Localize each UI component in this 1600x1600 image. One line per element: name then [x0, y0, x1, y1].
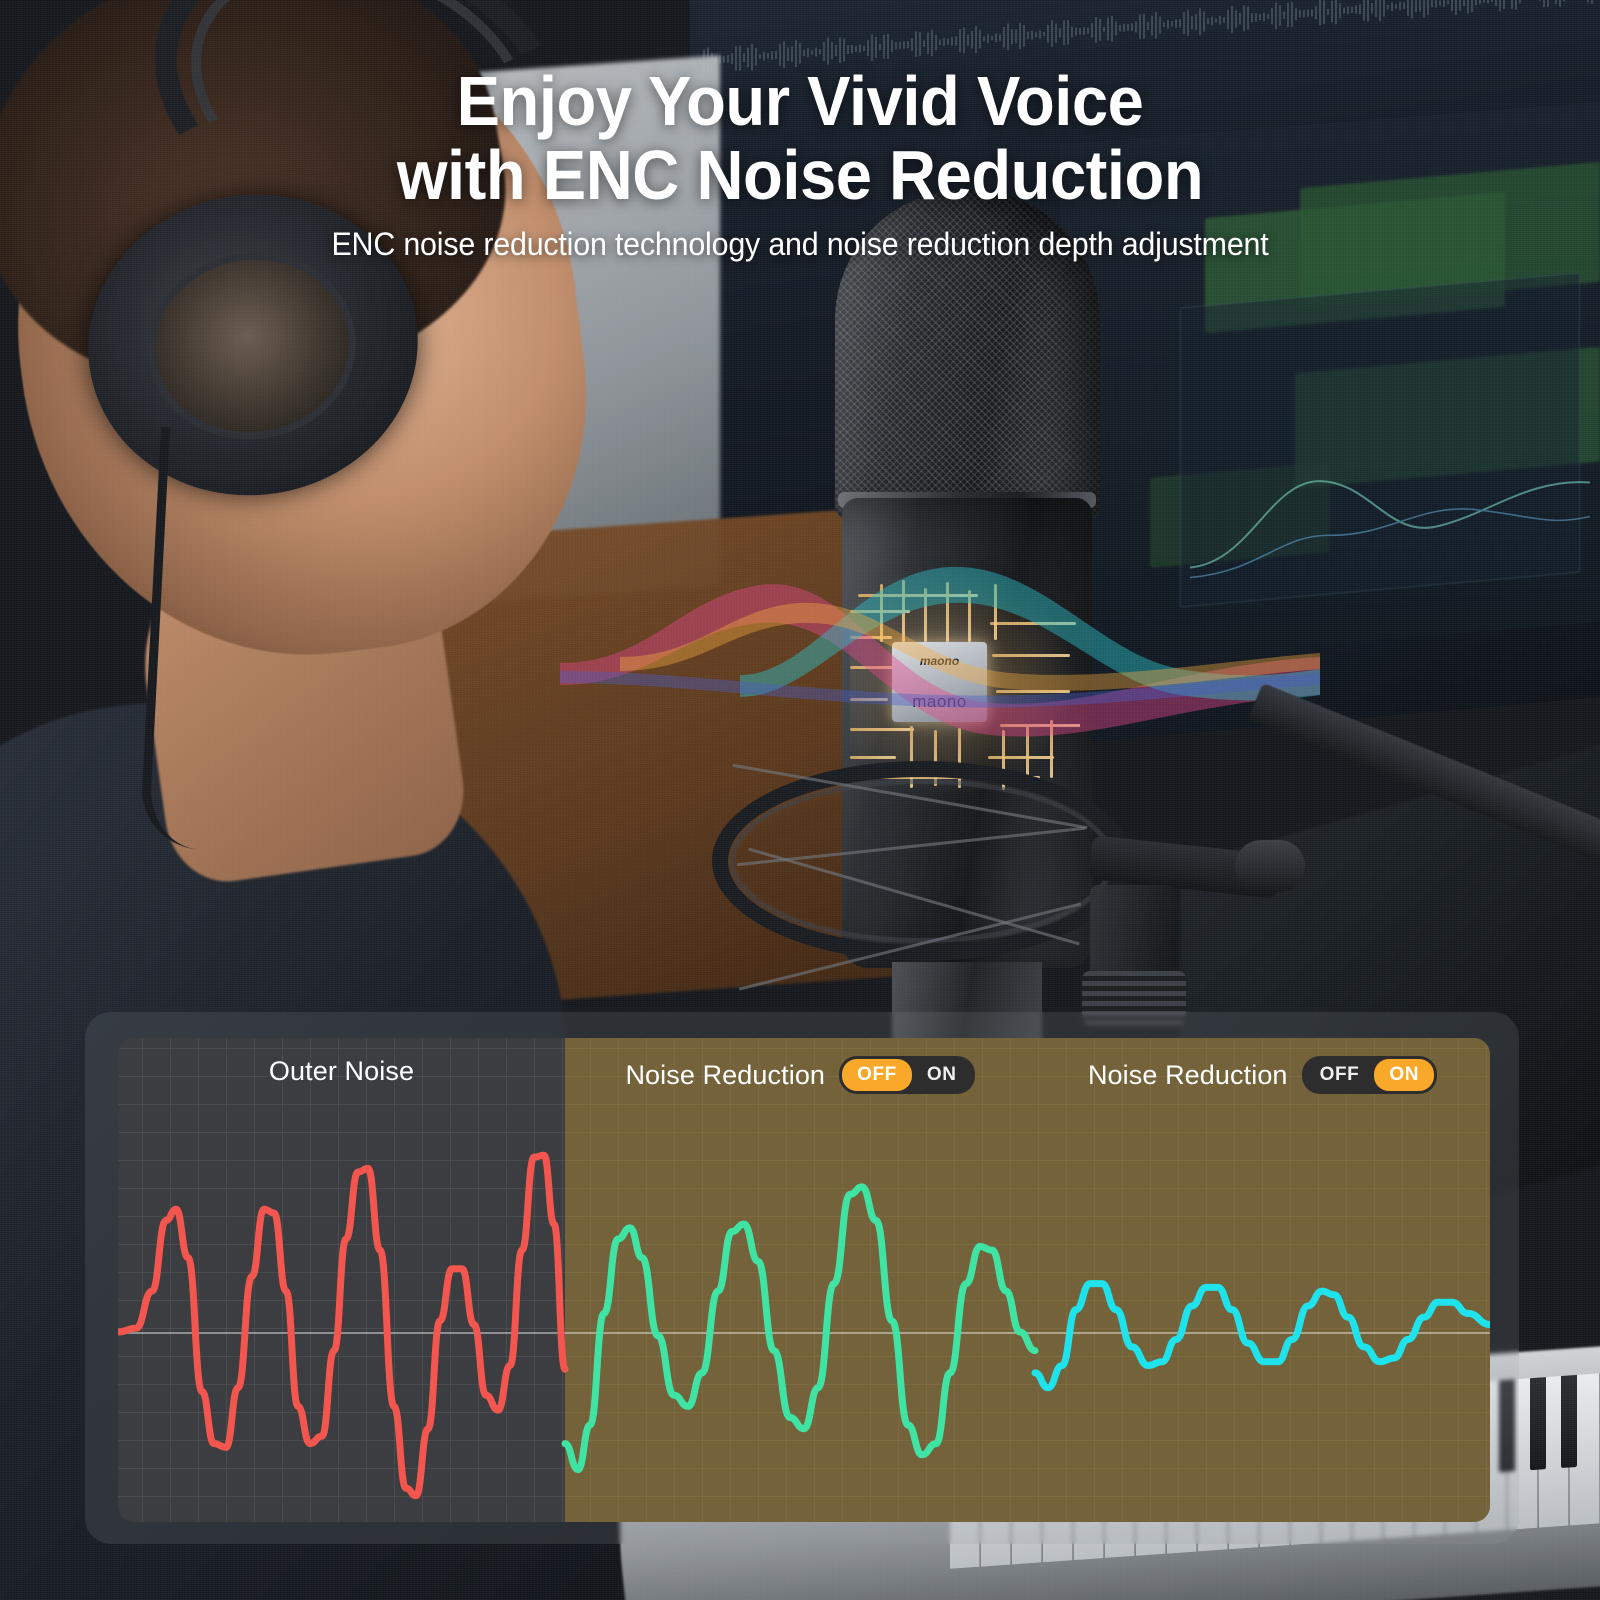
- waveform-outer-noise: [118, 1155, 565, 1495]
- toggle-segment-on[interactable]: ON: [912, 1059, 972, 1091]
- circuit-trace: [902, 580, 905, 642]
- waveform-chart: [118, 1038, 1490, 1522]
- panel-header-reduction-off: Noise Reduction OFF ON: [565, 1056, 1035, 1094]
- eq-curve: [1190, 413, 1590, 618]
- comparison-panel: Outer Noise Noise Reduction OFF ON Noise…: [118, 1038, 1490, 1522]
- noise-reduction-toggle-on[interactable]: OFF ON: [1302, 1056, 1438, 1094]
- circuit-trace: [992, 654, 1070, 657]
- headline-line-1: Enjoy Your Vivid Voice: [56, 64, 1544, 138]
- noise-reduction-toggle-off[interactable]: OFF ON: [839, 1056, 975, 1094]
- piano-black-key: [1530, 1377, 1546, 1470]
- toggle-segment-on[interactable]: ON: [1374, 1059, 1434, 1091]
- circuit-trace: [858, 594, 978, 597]
- headphone-earpad: [136, 240, 368, 453]
- circuit-trace: [850, 728, 914, 731]
- panel-title: Noise Reduction: [1088, 1060, 1288, 1091]
- toggle-segment-off[interactable]: OFF: [1305, 1059, 1375, 1091]
- circuit-trace: [946, 582, 949, 642]
- headphone-cable: [139, 427, 291, 853]
- circuit-trace: [994, 584, 997, 640]
- circuit-trace: [996, 690, 1070, 693]
- headline-line-2: with ENC Noise Reduction: [56, 138, 1544, 212]
- circuit-trace: [924, 588, 927, 642]
- headline-block: Enjoy Your Vivid Voice with ENC Noise Re…: [0, 64, 1600, 263]
- toggle-segment-off[interactable]: OFF: [842, 1059, 912, 1091]
- circuit-trace: [968, 590, 971, 642]
- chip-brand-label: maono: [892, 692, 987, 712]
- product-marketing-image: maono maono Enjoy Your Vivid Voice with …: [0, 0, 1600, 1600]
- circuit-trace: [990, 622, 1076, 625]
- shock-mount: [690, 735, 1300, 1025]
- headline-subtitle: ENC noise reduction technology and noise…: [40, 226, 1560, 263]
- enc-chip: maono maono: [892, 642, 987, 722]
- circuit-trace: [880, 584, 883, 642]
- circuit-trace: [1000, 724, 1080, 727]
- piano-black-key: [1561, 1375, 1577, 1468]
- panel-header-outer-noise: Outer Noise: [118, 1056, 565, 1087]
- waveform-reduction-off: [565, 1187, 1035, 1470]
- maono-mark-icon: maono: [920, 654, 959, 668]
- panel-title: Outer Noise: [269, 1056, 414, 1087]
- panel-title: Noise Reduction: [625, 1060, 825, 1091]
- mount-knob: [1235, 840, 1305, 892]
- panel-header-reduction-on: Noise Reduction OFF ON: [1035, 1056, 1490, 1094]
- waveform-reduction-on: [1035, 1284, 1490, 1388]
- circuit-trace: [850, 698, 888, 701]
- circuit-trace: [850, 636, 892, 639]
